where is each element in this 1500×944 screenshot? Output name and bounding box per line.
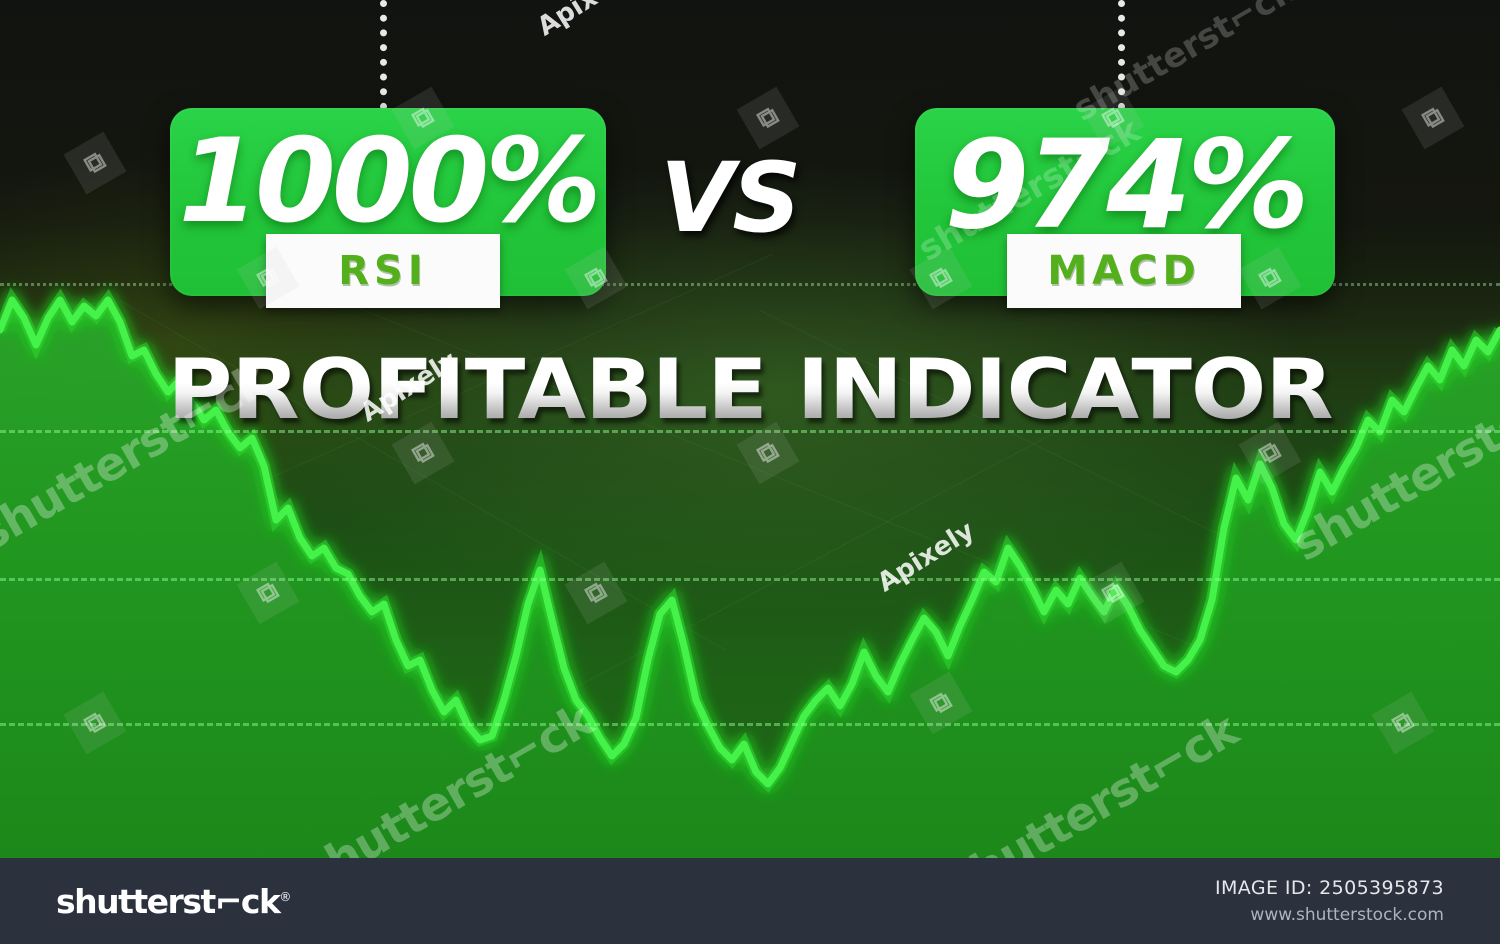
footer-meta: IMAGE ID: 2505395873 www.shutterstock.co…	[1215, 877, 1444, 925]
badge-tag-box-rsi: RSI	[266, 234, 500, 308]
shutterstock-footer-bar: shutterst⌐ck® IMAGE ID: 2505395873 www.s…	[0, 858, 1500, 944]
hanging-string-right	[1118, 0, 1125, 110]
metric-badge-rsi[interactable]: 1000% RSI	[170, 108, 606, 296]
gridline-2	[0, 578, 1500, 581]
hanging-string-left	[380, 0, 387, 110]
shutterstock-logo: shutterst⌐ck®	[56, 882, 290, 921]
gridline-3	[0, 723, 1500, 726]
promo-graphic: 1000% RSI VS 974% MACD PROFITABLE INDICA…	[0, 0, 1500, 944]
badge-value-rsi: 1000%	[178, 124, 597, 240]
website-url-label: www.shutterstock.com	[1215, 905, 1444, 925]
chart-artwork: 1000% RSI VS 974% MACD PROFITABLE INDICA…	[0, 0, 1500, 858]
metric-badge-macd[interactable]: 974% MACD	[915, 108, 1335, 296]
image-id-label: IMAGE ID: 2505395873	[1215, 877, 1444, 899]
badge-tag-label-macd: MACD	[1047, 248, 1200, 294]
page-title: PROFITABLE INDICATOR	[0, 348, 1500, 431]
shutterstock-logo-text: shutterst⌐ck	[56, 882, 279, 921]
versus-label: VS	[660, 150, 799, 246]
badge-value-macd: 974%	[945, 124, 1306, 246]
registered-mark-icon: ®	[279, 890, 290, 904]
badge-tag-label-rsi: RSI	[338, 248, 428, 294]
badge-tag-box-macd: MACD	[1007, 234, 1241, 308]
